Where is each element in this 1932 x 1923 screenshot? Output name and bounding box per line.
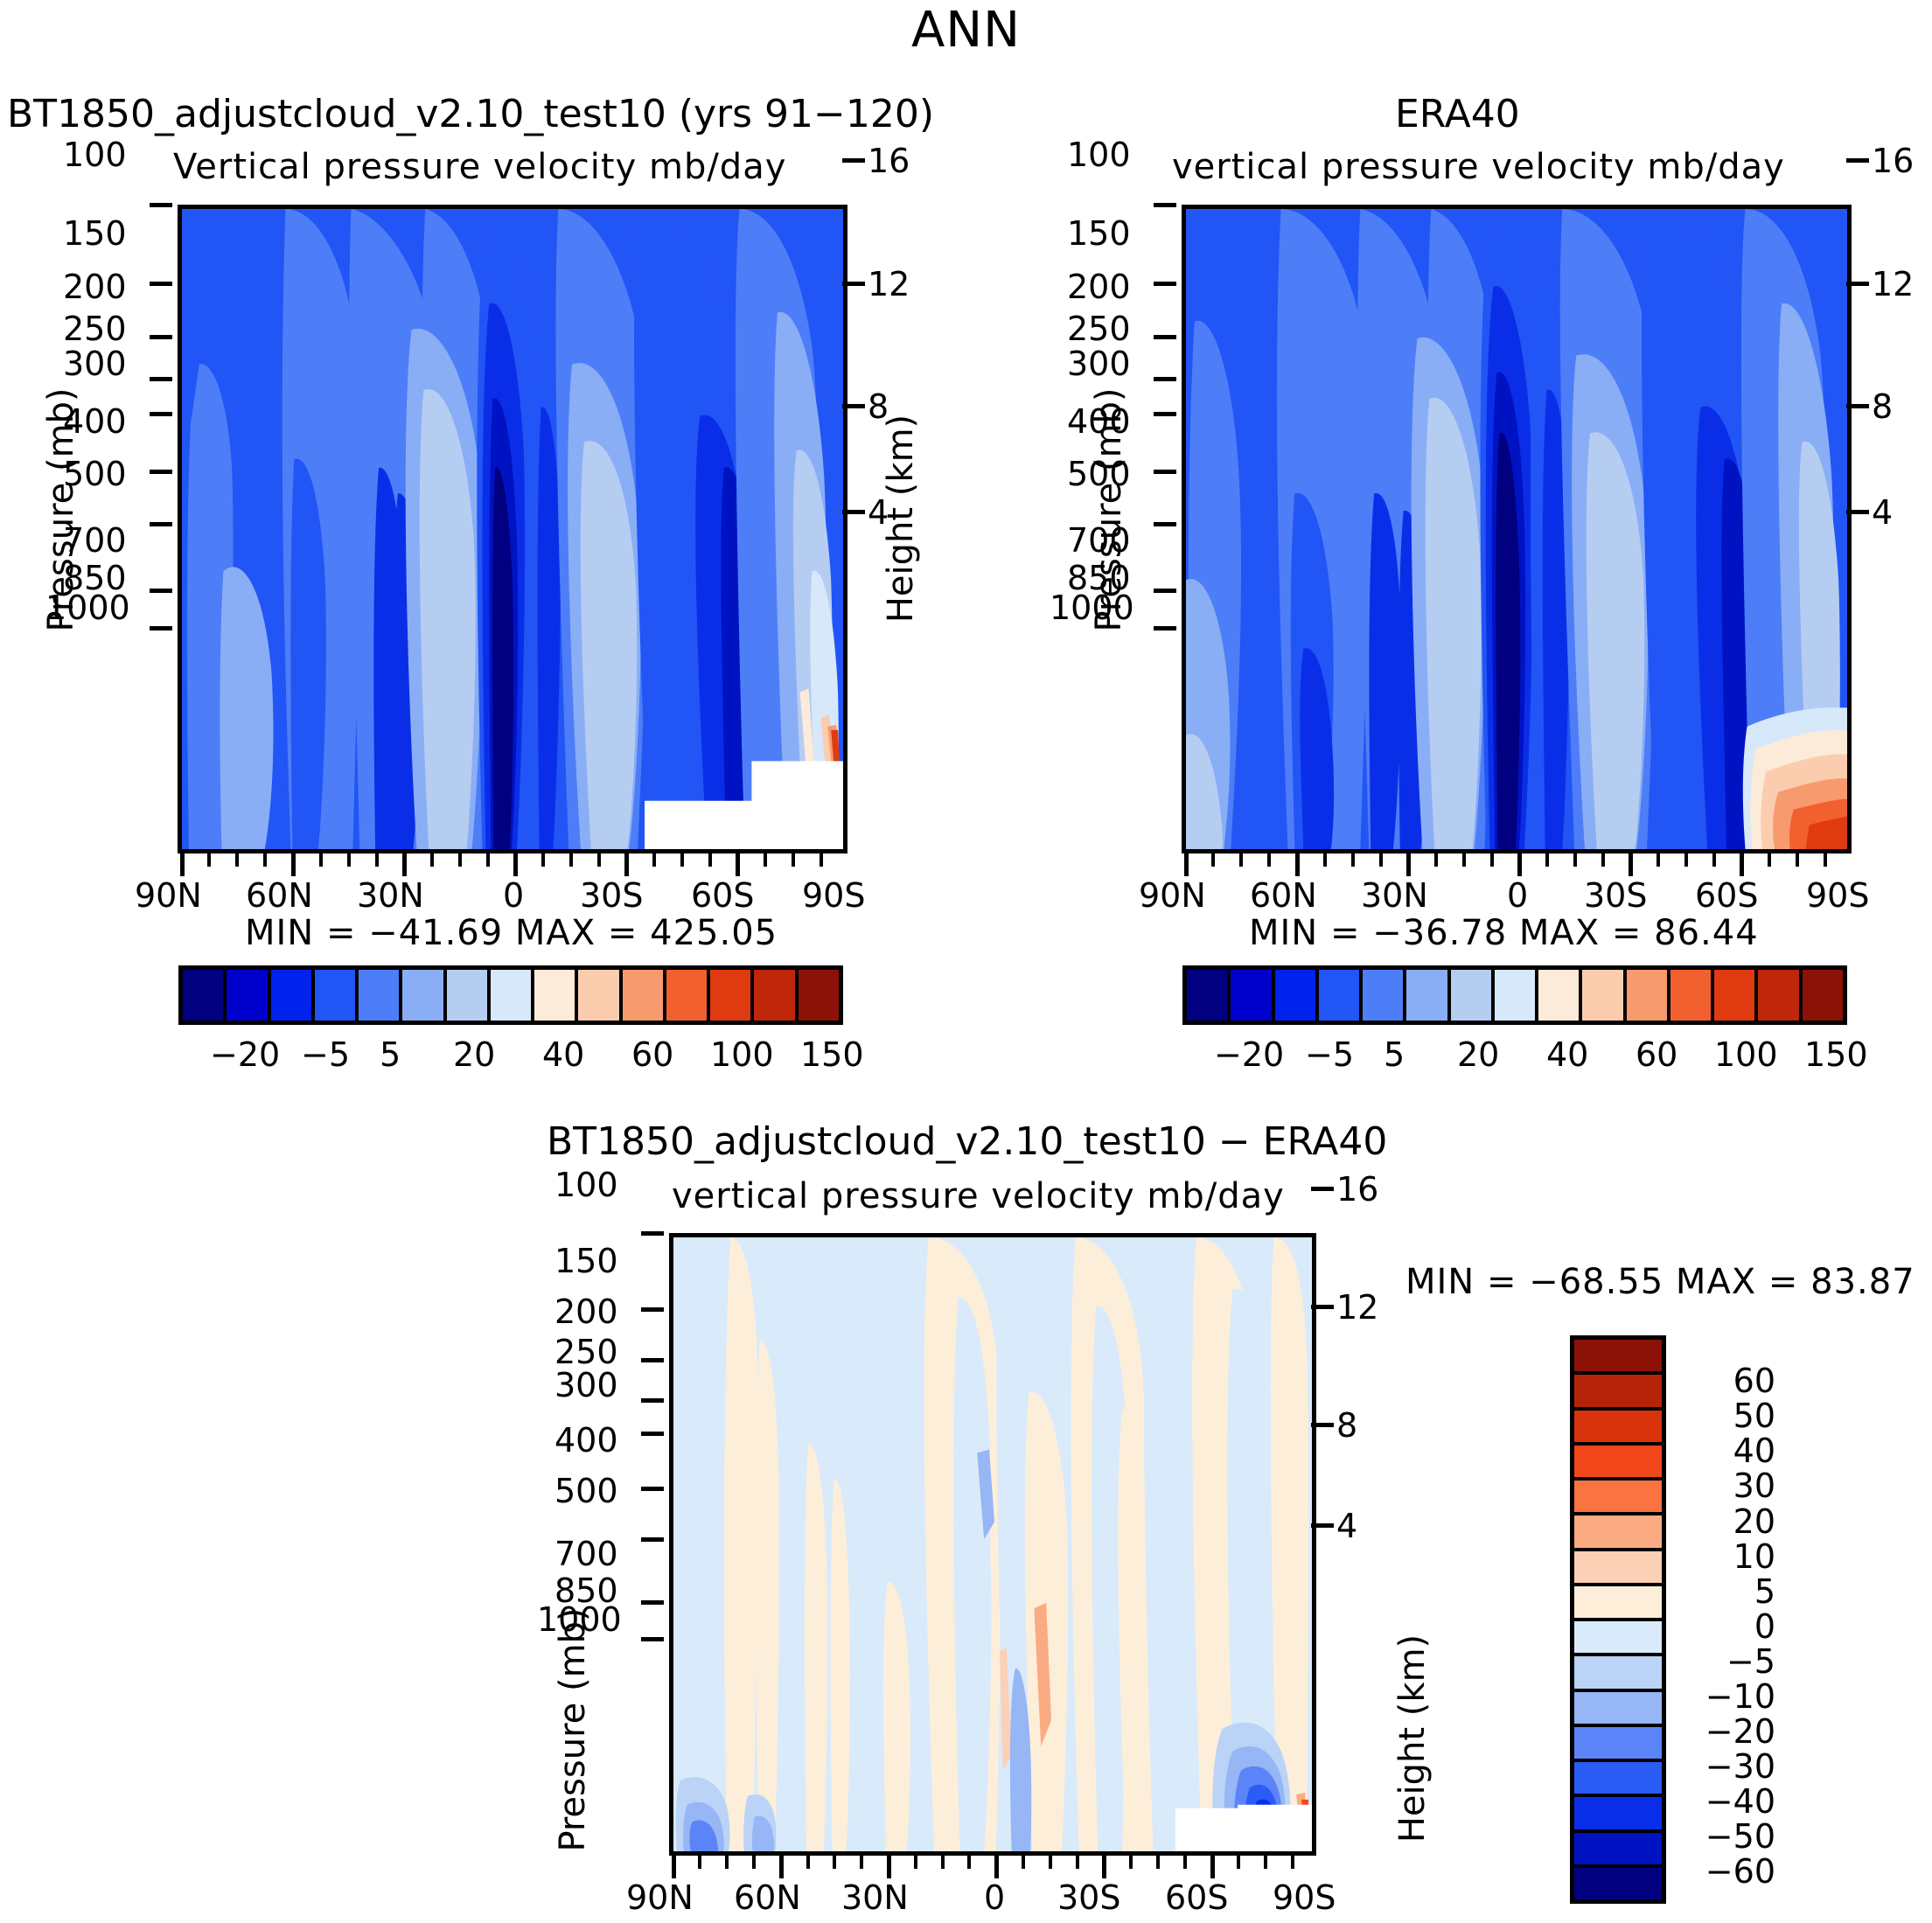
- obs-cbar-label-6: 100: [1714, 1035, 1778, 1074]
- obs-xtick-minor: [1545, 854, 1549, 867]
- obs-xtick-minor: [1712, 854, 1716, 867]
- diff-cbar-label-8: −5: [1679, 1642, 1775, 1681]
- colorbar-cell-9: [578, 970, 622, 1021]
- obs-xtick-minor: [1573, 854, 1577, 867]
- diff-htick-mark-4: [1311, 1523, 1334, 1528]
- model-xtick-minor: [375, 854, 379, 867]
- model-xtick-mark-90N: [180, 854, 185, 876]
- diff-xtick-mark-0: [994, 1856, 999, 1878]
- diff-cbar-label-5: 10: [1679, 1537, 1775, 1576]
- diff-xtick-minor: [1183, 1856, 1187, 1869]
- model-htick-mark-12: [842, 282, 865, 286]
- colorbar-cell-4: [1574, 1481, 1662, 1515]
- diff-contour-canvas: [673, 1237, 1312, 1851]
- diff-xtick-mark-60N: [779, 1856, 784, 1878]
- model-xtick-minor: [792, 854, 795, 867]
- diff-ytick-mark-400: [641, 1487, 664, 1491]
- diff-ytick-200: 200: [554, 1292, 618, 1331]
- obs-xtick-minor: [1323, 854, 1327, 867]
- obs-ytick-mark-700: [1154, 589, 1176, 593]
- diff-ytick-mark-300: [641, 1432, 664, 1436]
- model-colorbar[interactable]: [178, 965, 843, 1025]
- diff-xtick-mark-60S: [1210, 1856, 1215, 1878]
- model-xtick-minor: [708, 854, 712, 867]
- diff-contour-plot[interactable]: [669, 1233, 1316, 1856]
- obs-cbar-label-7: 150: [1804, 1035, 1868, 1074]
- model-xlabel-60S: 60S: [691, 876, 754, 915]
- diff-htick-mark-16: [1311, 1187, 1334, 1191]
- obs-xtick-minor: [1351, 854, 1355, 867]
- diff-height-axis-label: Height (km): [1392, 1607, 1433, 1870]
- obs-xlabel-60S: 60S: [1695, 876, 1758, 915]
- model-htick-8: 8: [868, 387, 889, 426]
- obs-xtick-minor: [1601, 854, 1605, 867]
- diff-ytick-mark-150: [641, 1307, 664, 1312]
- colorbar-cell-12: [1714, 970, 1758, 1021]
- diff-xtick-minor: [1156, 1856, 1160, 1869]
- model-cbar-label-6: 100: [710, 1035, 774, 1074]
- diff-cbar-label-7: 0: [1679, 1607, 1775, 1646]
- obs-cbar-label-4: 40: [1546, 1035, 1588, 1074]
- colorbar-cell-15: [1574, 1868, 1662, 1899]
- obs-xlabel-60N: 60N: [1250, 876, 1317, 915]
- diff-colorbar[interactable]: [1570, 1335, 1666, 1904]
- model-ytick-mark-200: [150, 335, 172, 339]
- model-ytick-mark-500: [150, 522, 172, 526]
- model-ytick-mark-100: [150, 203, 172, 207]
- diff-xtick-minor: [914, 1856, 917, 1869]
- model-htick-mark-8: [842, 404, 865, 408]
- diff-ytick-100: 100: [554, 1166, 618, 1204]
- diff-htick-8: 8: [1336, 1406, 1357, 1445]
- model-ytick-mark-250: [150, 377, 172, 381]
- colorbar-cell-4: [1363, 970, 1406, 1021]
- obs-colorbar[interactable]: [1182, 965, 1847, 1025]
- diff-xlabel-60S: 60S: [1165, 1878, 1228, 1917]
- model-xlabel-90N: 90N: [135, 876, 202, 915]
- diff-xlabel-30S: 30S: [1057, 1878, 1120, 1917]
- diff-panel-subtitle: vertical pressure velocity mb/day: [672, 1176, 1285, 1216]
- model-xlabel-60N: 60N: [246, 876, 313, 915]
- diff-xtick-mark-90N: [672, 1856, 676, 1878]
- colorbar-cell-12: [1574, 1762, 1662, 1797]
- model-ytick-1000: 1000: [45, 589, 130, 627]
- model-ytick-mark-850: [150, 626, 172, 631]
- colorbar-cell-2: [1275, 970, 1319, 1021]
- model-cbar-label-2: 5: [380, 1035, 401, 1074]
- obs-htick-mark-16: [1846, 158, 1869, 163]
- obs-panel-subtitle: vertical pressure velocity mb/day: [1172, 147, 1785, 187]
- diff-cbar-label-10: −20: [1679, 1712, 1775, 1751]
- model-xtick-mark-0: [513, 854, 518, 876]
- obs-xtick-mark-0: [1517, 854, 1522, 876]
- model-htick-mark-4: [842, 510, 865, 514]
- colorbar-cell-11: [1670, 970, 1714, 1021]
- diff-ytick-1000: 1000: [537, 1600, 622, 1639]
- obs-xtick-minor: [1211, 854, 1215, 867]
- colorbar-cell-4: [359, 970, 402, 1021]
- model-ytick-200: 200: [63, 268, 127, 306]
- model-xlabel-30N: 30N: [357, 876, 424, 915]
- model-xtick-minor: [458, 854, 462, 867]
- model-ytick-700: 700: [63, 521, 127, 560]
- diff-xtick-minor: [1076, 1856, 1079, 1869]
- diff-ytick-500: 500: [554, 1472, 618, 1510]
- model-contour-plot[interactable]: [178, 205, 847, 854]
- colorbar-cell-1: [1574, 1375, 1662, 1410]
- diff-cbar-label-2: 40: [1679, 1432, 1775, 1470]
- model-ytick-100: 100: [63, 136, 127, 174]
- model-xtick-mark-60N: [291, 854, 296, 876]
- obs-cbar-label-1: −5: [1305, 1035, 1354, 1074]
- obs-xtick-mark-90N: [1184, 854, 1189, 876]
- colorbar-cell-6: [1451, 970, 1495, 1021]
- colorbar-cell-0: [1574, 1340, 1662, 1375]
- diff-xtick-minor: [1022, 1856, 1025, 1869]
- obs-xtick-mark-60N: [1295, 854, 1300, 876]
- diff-xtick-minor: [1129, 1856, 1133, 1869]
- obs-panel-title: ERA40: [1395, 92, 1520, 136]
- diff-xtick-minor: [698, 1856, 701, 1869]
- obs-xtick-minor: [1490, 854, 1494, 867]
- colorbar-cell-2: [271, 970, 315, 1021]
- diff-xtick-minor: [806, 1856, 810, 1869]
- colorbar-cell-5: [1574, 1515, 1662, 1550]
- colorbar-cell-10: [1574, 1692, 1662, 1727]
- obs-ytick-500: 500: [1067, 455, 1131, 493]
- diff-minmax: MIN = −68.55 MAX = 83.87: [1405, 1262, 1915, 1302]
- obs-cbar-label-3: 20: [1457, 1035, 1499, 1074]
- diff-xlabel-90N: 90N: [626, 1878, 694, 1917]
- obs-xlabel-0: 0: [1507, 876, 1528, 915]
- diff-xtick-mark-30S: [1102, 1856, 1106, 1878]
- obs-htick-mark-8: [1846, 404, 1869, 408]
- obs-xtick-mark-30N: [1406, 854, 1411, 876]
- model-ytick-mark-400: [150, 470, 172, 474]
- obs-xtick-minor: [1239, 854, 1243, 867]
- obs-ytick-400: 400: [1067, 402, 1131, 441]
- obs-xtick-minor: [1462, 854, 1466, 867]
- obs-ytick-mark-300: [1154, 412, 1176, 416]
- colorbar-cell-5: [402, 970, 446, 1021]
- model-xlabel-90S: 90S: [802, 876, 865, 915]
- model-xtick-minor: [347, 854, 351, 867]
- diff-panel-title: BT1850_adjustcloud_v2.10_test10 − ERA40: [547, 1119, 1387, 1164]
- model-ytick-mark-300: [150, 412, 172, 416]
- obs-cbar-label-5: 60: [1636, 1035, 1677, 1074]
- obs-htick-12: 12: [1872, 265, 1914, 303]
- diff-xtick-minor: [1264, 1856, 1267, 1869]
- diff-ytick-mark-500: [641, 1537, 664, 1542]
- colorbar-cell-14: [799, 970, 839, 1021]
- season-title: ANN: [0, 2, 1932, 59]
- diff-ytick-300: 300: [554, 1366, 618, 1404]
- diff-cbar-label-6: 5: [1679, 1572, 1775, 1611]
- colorbar-cell-7: [1574, 1586, 1662, 1621]
- obs-ytick-1000: 1000: [1050, 589, 1134, 627]
- obs-htick-8: 8: [1872, 387, 1893, 426]
- diff-ytick-400: 400: [554, 1421, 618, 1460]
- colorbar-cell-10: [623, 970, 666, 1021]
- colorbar-cell-11: [1574, 1727, 1662, 1762]
- model-xtick-minor: [541, 854, 545, 867]
- obs-ytick-mark-850: [1154, 626, 1176, 631]
- diff-cbar-label-4: 20: [1679, 1502, 1775, 1541]
- model-xtick-minor: [207, 854, 211, 867]
- diff-xlabel-0: 0: [984, 1878, 1005, 1917]
- model-xtick-minor: [820, 854, 823, 867]
- obs-ytick-700: 700: [1067, 521, 1131, 560]
- diff-htick-mark-8: [1311, 1423, 1334, 1427]
- diff-xtick-minor: [1291, 1856, 1294, 1869]
- model-cbar-label-3: 20: [453, 1035, 495, 1074]
- obs-ytick-mark-400: [1154, 470, 1176, 474]
- colorbar-cell-2: [1574, 1411, 1662, 1446]
- colorbar-cell-6: [1574, 1551, 1662, 1586]
- model-contour-canvas: [182, 209, 843, 849]
- model-cbar-label-1: −5: [301, 1035, 350, 1074]
- obs-xtick-minor: [1768, 854, 1771, 867]
- model-cbar-label-5: 60: [631, 1035, 673, 1074]
- obs-xlabel-30N: 30N: [1361, 876, 1428, 915]
- diff-ytick-mark-200: [641, 1358, 664, 1362]
- colorbar-cell-9: [1574, 1656, 1662, 1691]
- model-xtick-minor: [652, 854, 656, 867]
- colorbar-cell-0: [183, 970, 227, 1021]
- diff-ytick-mark-700: [641, 1600, 664, 1605]
- obs-xtick-minor: [1824, 854, 1827, 867]
- diff-cbar-label-1: 50: [1679, 1397, 1775, 1435]
- obs-xtick-minor: [1267, 854, 1271, 867]
- colorbar-cell-9: [1582, 970, 1626, 1021]
- obs-ytick-mark-200: [1154, 335, 1176, 339]
- obs-ytick-200: 200: [1067, 268, 1131, 306]
- diff-htick-mark-12: [1311, 1305, 1334, 1309]
- model-xtick-mark-30S: [624, 854, 629, 876]
- model-panel-title: BT1850_adjustcloud_v2.10_test10 (yrs 91−…: [7, 92, 934, 136]
- colorbar-cell-13: [1574, 1797, 1662, 1832]
- diff-xtick-minor: [833, 1856, 836, 1869]
- obs-xtick-mark-60S: [1740, 854, 1744, 876]
- model-ytick-500: 500: [63, 455, 127, 493]
- model-minmax: MIN = −41.69 MAX = 425.05: [245, 913, 778, 953]
- diff-ytick-700: 700: [554, 1535, 618, 1573]
- model-cbar-label-4: 40: [542, 1035, 584, 1074]
- model-xtick-minor: [680, 854, 684, 867]
- obs-ytick-mark-500: [1154, 522, 1176, 526]
- obs-cbar-label-2: 5: [1384, 1035, 1405, 1074]
- colorbar-cell-5: [1406, 970, 1450, 1021]
- diff-xlabel-30N: 30N: [841, 1878, 909, 1917]
- colorbar-cell-11: [666, 970, 710, 1021]
- diff-xtick-minor: [967, 1856, 971, 1869]
- diff-cbar-label-0: 60: [1679, 1362, 1775, 1400]
- diff-cbar-label-12: −40: [1679, 1782, 1775, 1821]
- model-xtick-minor: [319, 854, 323, 867]
- colorbar-cell-10: [1627, 970, 1670, 1021]
- obs-htick-mark-12: [1846, 282, 1869, 286]
- diff-ytick-mark-250: [641, 1398, 664, 1403]
- colorbar-cell-14: [1574, 1833, 1662, 1868]
- model-ytick-300: 300: [63, 345, 127, 383]
- obs-ytick-150: 150: [1067, 214, 1131, 253]
- obs-htick-mark-4: [1846, 510, 1869, 514]
- model-xtick-minor: [597, 854, 601, 867]
- diff-xtick-minor: [725, 1856, 729, 1869]
- colorbar-cell-3: [1319, 970, 1363, 1021]
- diff-ytick-mark-100: [641, 1231, 664, 1236]
- obs-htick-16: 16: [1872, 142, 1914, 180]
- diff-xlabel-90S: 90S: [1273, 1878, 1336, 1917]
- obs-ytick-mark-250: [1154, 377, 1176, 381]
- colorbar-cell-14: [1803, 970, 1843, 1021]
- colorbar-cell-3: [1574, 1446, 1662, 1481]
- colorbar-cell-8: [534, 970, 578, 1021]
- obs-ytick-100: 100: [1067, 136, 1131, 174]
- diff-cbar-label-13: −50: [1679, 1817, 1775, 1856]
- obs-xtick-minor: [1434, 854, 1438, 867]
- diff-xtick-minor: [1237, 1856, 1240, 1869]
- obs-xlabel-30S: 30S: [1584, 876, 1647, 915]
- model-htick-4: 4: [868, 493, 889, 532]
- obs-ytick-300: 300: [1067, 345, 1131, 383]
- obs-xtick-minor: [1379, 854, 1383, 867]
- obs-xtick-minor: [1796, 854, 1799, 867]
- colorbar-cell-1: [1231, 970, 1274, 1021]
- diff-xtick-minor: [1049, 1856, 1052, 1869]
- obs-htick-4: 4: [1872, 493, 1893, 532]
- diff-ytick-150: 150: [554, 1242, 618, 1280]
- colorbar-cell-13: [1758, 970, 1802, 1021]
- diff-cbar-label-11: −30: [1679, 1747, 1775, 1786]
- colorbar-cell-8: [1574, 1621, 1662, 1656]
- colorbar-cell-8: [1538, 970, 1582, 1021]
- obs-height-axis-label: Height (km): [1929, 387, 1932, 650]
- model-panel-subtitle: Vertical pressure velocity mb/day: [173, 147, 786, 187]
- obs-xtick-mark-30S: [1629, 854, 1633, 876]
- model-ytick-mark-150: [150, 282, 172, 286]
- diff-htick-12: 12: [1336, 1288, 1378, 1327]
- model-xlabel-30S: 30S: [580, 876, 643, 915]
- diff-xtick-minor: [752, 1856, 756, 1869]
- colorbar-cell-3: [315, 970, 359, 1021]
- obs-ytick-mark-150: [1154, 282, 1176, 286]
- model-xtick-minor: [430, 854, 434, 867]
- model-xtick-minor: [235, 854, 239, 867]
- diff-xlabel-60N: 60N: [734, 1878, 801, 1917]
- model-ytick-150: 150: [63, 214, 127, 253]
- model-ytick-250: 250: [63, 310, 127, 348]
- diff-cbar-label-9: −10: [1679, 1677, 1775, 1716]
- model-xtick-mark-60S: [736, 854, 740, 876]
- model-htick-12: 12: [868, 265, 910, 303]
- model-cbar-label-7: 150: [800, 1035, 864, 1074]
- model-xtick-minor: [486, 854, 490, 867]
- model-xlabel-0: 0: [503, 876, 524, 915]
- model-ytick-400: 400: [63, 402, 127, 441]
- diff-xtick-minor: [941, 1856, 945, 1869]
- diff-xtick-minor: [860, 1856, 863, 1869]
- model-htick-mark-16: [842, 158, 865, 163]
- model-htick-16: 16: [868, 142, 910, 180]
- diff-cbar-label-3: 30: [1679, 1467, 1775, 1505]
- colorbar-cell-0: [1187, 970, 1231, 1021]
- colorbar-cell-7: [491, 970, 534, 1021]
- obs-cbar-label-0: −20: [1214, 1035, 1284, 1074]
- model-xtick-minor: [569, 854, 573, 867]
- colorbar-cell-7: [1495, 970, 1538, 1021]
- obs-xlabel-90N: 90N: [1139, 876, 1206, 915]
- diff-cbar-label-14: −60: [1679, 1852, 1775, 1891]
- obs-xtick-minor: [1656, 854, 1660, 867]
- obs-ytick-mark-100: [1154, 203, 1176, 207]
- obs-contour-canvas: [1186, 209, 1847, 849]
- model-xtick-minor: [764, 854, 767, 867]
- colorbar-cell-13: [754, 970, 798, 1021]
- colorbar-cell-1: [227, 970, 270, 1021]
- obs-xlabel-90S: 90S: [1806, 876, 1869, 915]
- obs-ytick-250: 250: [1067, 310, 1131, 348]
- diff-ytick-mark-850: [641, 1637, 664, 1641]
- model-xtick-mark-30N: [402, 854, 407, 876]
- obs-contour-plot[interactable]: [1182, 205, 1852, 854]
- obs-minmax: MIN = −36.78 MAX = 86.44: [1249, 913, 1759, 953]
- diff-htick-16: 16: [1336, 1170, 1378, 1209]
- model-cbar-label-0: −20: [210, 1035, 280, 1074]
- colorbar-cell-6: [447, 970, 491, 1021]
- diff-xtick-mark-30N: [887, 1856, 891, 1878]
- obs-xtick-minor: [1684, 854, 1688, 867]
- model-xtick-minor: [263, 854, 267, 867]
- colorbar-cell-12: [710, 970, 754, 1021]
- diff-htick-4: 4: [1336, 1507, 1357, 1545]
- model-ytick-mark-700: [150, 589, 172, 593]
